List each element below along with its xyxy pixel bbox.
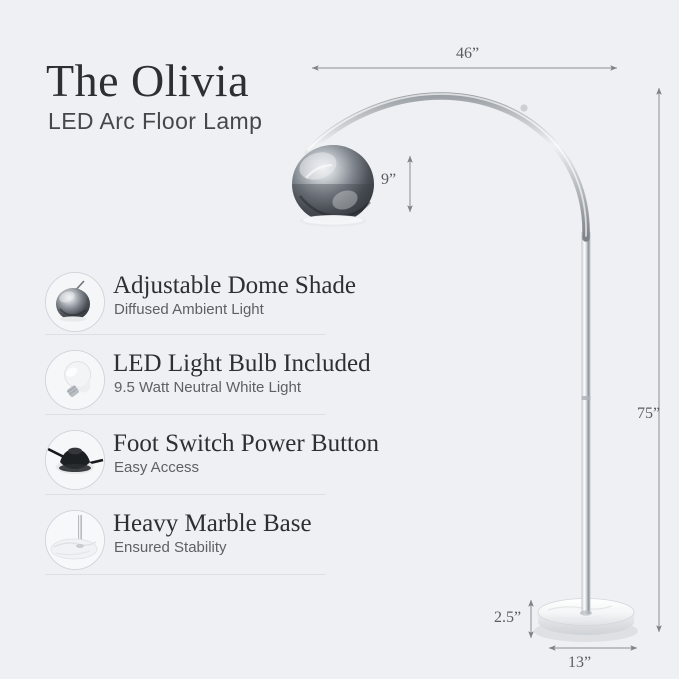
feature-item-dome-shade: Adjustable Dome Shade Diffused Ambient L… [45,272,335,338]
feature-subtext: Ensured Stability [114,540,227,557]
feature-divider [45,494,326,495]
feature-heading: Foot Switch Power Button [113,430,379,458]
dimension-label-total-height: 75” [637,406,660,422]
feature-item-marble-base: Heavy Marble Base Ensured Stability [45,510,335,576]
led-bulb-icon [45,350,105,410]
feature-item-foot-switch: Foot Switch Power Button Easy Access [45,430,335,496]
feature-divider [45,414,326,415]
feature-item-led-bulb: LED Light Bulb Included 9.5 Watt Neutral… [45,350,335,416]
dimension-label-shade-diameter: 9” [381,172,396,188]
feature-subtext: Easy Access [114,460,199,477]
dimension-label-arc-span: 46” [456,46,479,62]
chrome-dome-shade-icon [45,272,105,332]
dimension-label-base-thickness: 2.5” [494,610,521,626]
feature-subtext: Diffused Ambient Light [114,302,264,319]
feature-heading: Adjustable Dome Shade [113,272,356,300]
feature-heading: Heavy Marble Base [113,510,312,538]
marble-base-icon [45,510,105,570]
feature-divider [45,334,326,335]
page-subtitle: LED Arc Floor Lamp [48,110,262,133]
feature-divider [45,574,326,575]
feature-subtext: 9.5 Watt Neutral White Light [114,380,301,397]
feature-heading: LED Light Bulb Included [113,350,371,378]
page-title: The Olivia [46,58,249,104]
foot-switch-icon [45,430,105,490]
product-infographic: The Olivia LED Arc Floor Lamp 46” 9” 75”… [0,0,679,679]
dimension-label-base-diameter: 13” [568,655,591,671]
